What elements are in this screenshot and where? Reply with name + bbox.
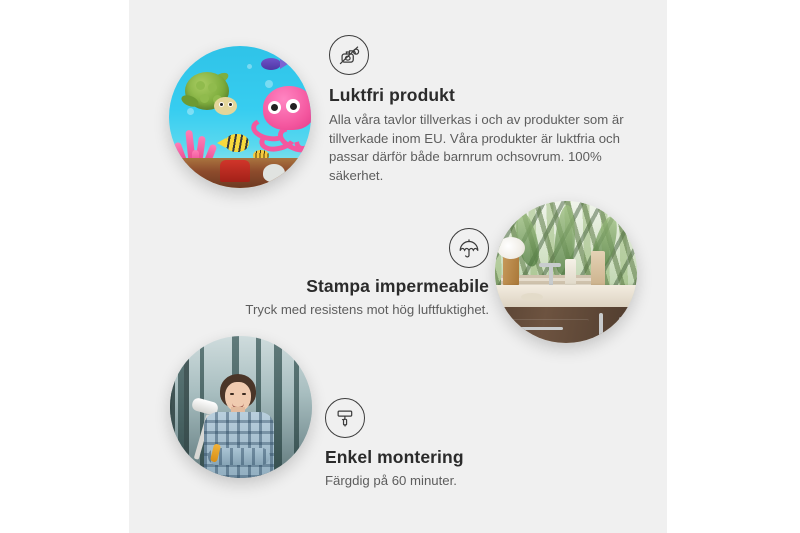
vanity-cabinet — [495, 307, 637, 343]
bubble-decoration — [247, 64, 252, 69]
turtle-decoration — [185, 72, 237, 114]
tree-decoration — [178, 336, 184, 478]
feature-body: Tryck med resistens mot hög luftfuktighe… — [189, 301, 489, 320]
drawer-handle — [517, 327, 563, 330]
feature-body: Färgdig på 60 minuter. — [325, 472, 615, 491]
feature-image-woman-painter-forest — [170, 336, 312, 478]
cabinet-handle — [599, 313, 603, 339]
blue-fish-decoration — [261, 58, 281, 70]
feature-title: Stampa impermeabile — [189, 276, 489, 297]
soap-dish — [521, 293, 543, 301]
yellow-fish-decoration — [225, 134, 249, 152]
feature-title: Luktfri produkt — [329, 85, 629, 106]
feature-block-odourless: Luktfri produkt Alla våra tavlor tillver… — [329, 35, 629, 186]
cabinet-handle — [619, 317, 623, 341]
tree-decoration — [294, 336, 299, 478]
no-perfume-spray-icon — [329, 35, 369, 75]
content-panel: Luktfri produkt Alla våra tavlor tillver… — [129, 0, 667, 533]
flowers-decoration — [497, 237, 525, 259]
seabed-strip — [169, 158, 311, 188]
feature-block-easy-mounting: Enkel montering Färgdig på 60 minuter. — [325, 398, 615, 491]
faucet — [549, 263, 553, 287]
countertop — [495, 285, 637, 307]
page-root: Luktfri produkt Alla våra tavlor tillver… — [0, 0, 800, 533]
feature-body: Alla våra tavlor tillverkas i och av pro… — [329, 111, 629, 186]
feature-image-bathroom-vanity — [495, 201, 637, 343]
feature-title: Enkel montering — [325, 447, 615, 468]
feature-image-underwater-kids-scene — [169, 46, 311, 188]
umbrella-icon — [449, 228, 489, 268]
woman-painter — [196, 374, 282, 478]
feature-block-waterproof: Stampa impermeabile Tryck med resistens … — [189, 228, 489, 320]
octopus-decoration — [255, 86, 311, 148]
drawer — [503, 319, 589, 343]
paint-roller-icon — [325, 398, 365, 438]
